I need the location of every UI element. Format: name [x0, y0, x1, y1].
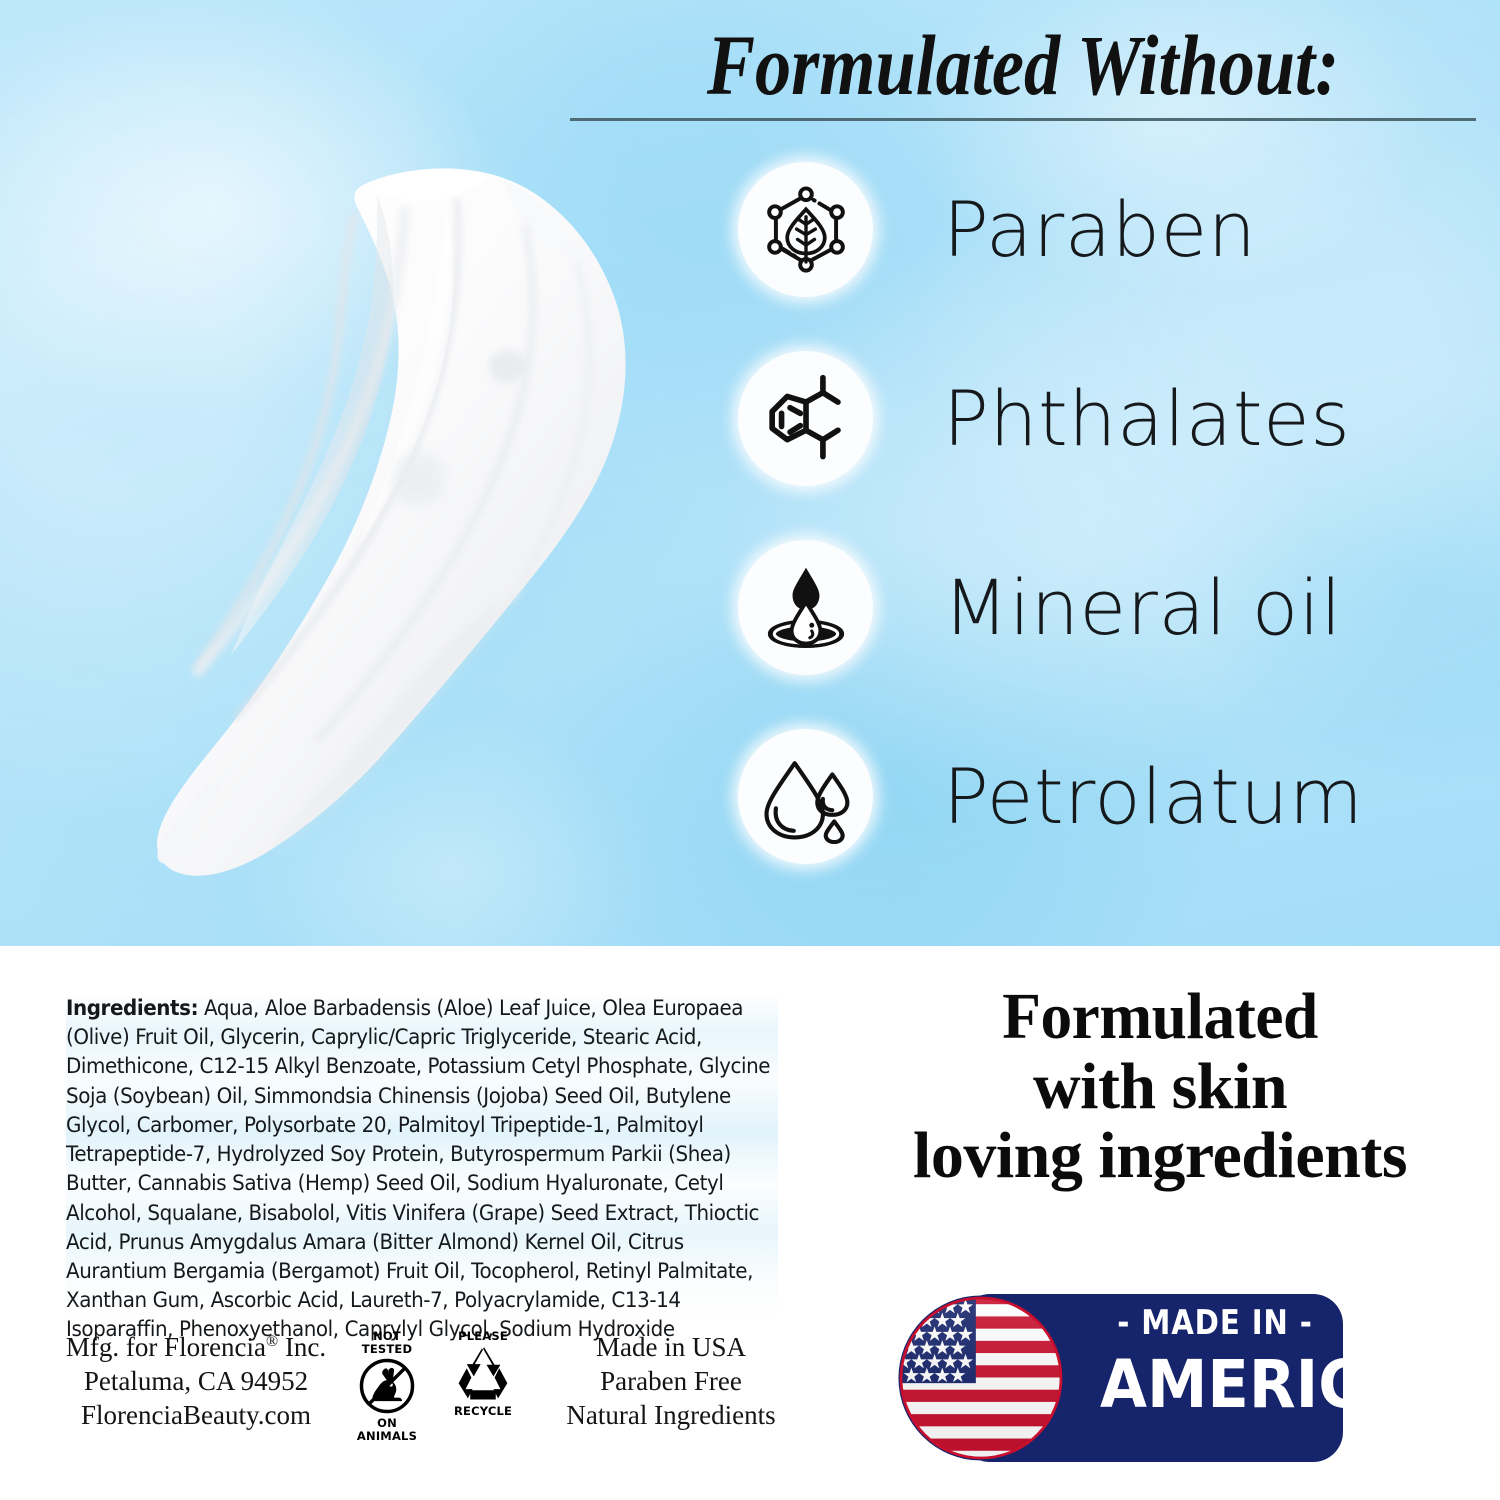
made-in-america-badge: - MADE IN - AMERICA [895, 1292, 1343, 1464]
molecule-leaf-icon [738, 162, 873, 297]
badge-made-in-label: - MADE IN - [1108, 1306, 1323, 1340]
headline-line-1: Formulated [853, 982, 1467, 1052]
mfg-city-state: Petaluma, CA 94952 [60, 1364, 332, 1398]
claim-row-petrolatum: Petrolatum [738, 729, 1478, 864]
usa-flag-circle-icon [895, 1292, 1067, 1464]
claim-label-phthalates: Phthalates [943, 381, 1350, 457]
recycle-icon [442, 1343, 524, 1405]
headline-line-2: with skin [840, 1052, 1480, 1122]
claim-row-paraben: Paraben [738, 162, 1478, 297]
benzene-ring-icon [738, 351, 873, 486]
claim-label-paraben: Paraben [943, 192, 1256, 268]
cert-caption-top: NOT TESTED [346, 1330, 428, 1355]
claim-label-mineral-oil: Mineral oil [943, 570, 1342, 646]
water-droplets-icon [738, 729, 873, 864]
formulated-with-headline: Formulated with skin loving ingredients [840, 982, 1480, 1191]
claim-row-mineral-oil: Mineral oil [738, 540, 1478, 675]
made-claims-list: Made in USA Paraben Free Natural Ingredi… [552, 1328, 790, 1432]
registered-mark: ® [266, 1333, 278, 1350]
made-claim-1: Paraben Free [552, 1364, 790, 1398]
formulated-without-panel: Formulated Without: [0, 0, 1500, 946]
cert-not-tested-on-animals: NOT TESTED ON ANIMALS [346, 1328, 428, 1443]
ingredients-body: Aqua, Aloe Barbadensis (Aloe) Leaf Juice… [66, 996, 770, 1342]
cert-caption-bottom: RECYCLE [442, 1405, 524, 1418]
mfg-inc: Inc. [278, 1332, 326, 1362]
oil-droplet-splash-icon [738, 540, 873, 675]
free-from-claims-list: Paraben [738, 162, 1478, 864]
cert-please-recycle: PLEASE RECYCLE [442, 1328, 524, 1417]
cream-swatch-image [105, 155, 665, 885]
headline-line-3: loving ingredients [840, 1121, 1480, 1191]
made-claim-2: Natural Ingredients [552, 1398, 790, 1432]
badge-text: - MADE IN - AMERICA [1090, 1306, 1340, 1419]
claim-label-petrolatum: Petrolatum [943, 759, 1363, 835]
ingredients-block: Ingredients: Aqua, Aloe Barbadensis (Alo… [66, 994, 778, 1345]
no-animal-testing-icon [346, 1355, 428, 1417]
badge-america-label: AMERICA [1100, 1350, 1330, 1419]
mfg-line-1: Mfg. for Florencia® Inc. [60, 1330, 332, 1364]
manufacturer-row: Mfg. for Florencia® Inc. Petaluma, CA 94… [60, 1328, 790, 1443]
title-divider [570, 118, 1476, 121]
cert-caption-top: PLEASE [442, 1330, 524, 1343]
cert-caption-bottom: ON ANIMALS [346, 1417, 428, 1442]
claim-row-phthalates: Phthalates [738, 351, 1478, 486]
manufacturer-address: Mfg. for Florencia® Inc. Petaluma, CA 94… [60, 1328, 332, 1432]
made-claim-0: Made in USA [552, 1330, 790, 1364]
section-title-wrap: Formulated Without: [570, 22, 1476, 121]
section-title: Formulated Without: [642, 22, 1403, 108]
mfg-website[interactable]: FlorenciaBeauty.com [60, 1398, 332, 1432]
ingredients-label: Ingredients: [66, 996, 198, 1021]
mfg-company: Mfg. for Florencia [66, 1332, 266, 1362]
ingredients-text: Ingredients: Aqua, Aloe Barbadensis (Alo… [66, 994, 778, 1345]
